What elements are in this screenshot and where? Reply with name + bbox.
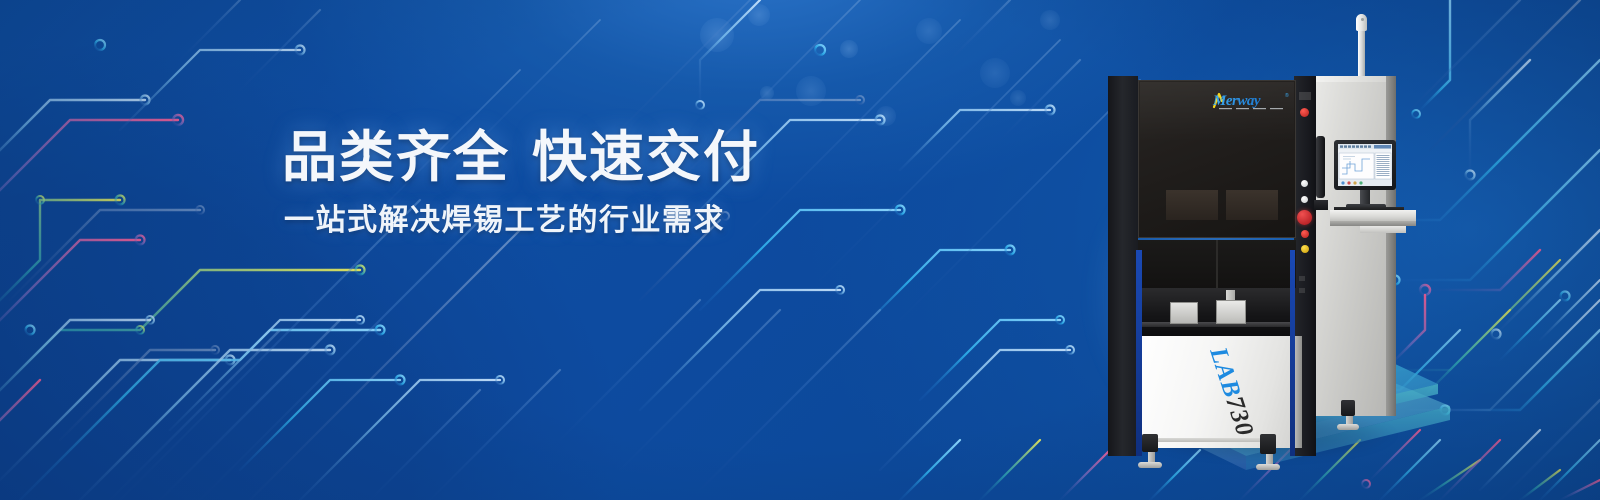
brand-logo: Merway ® bbox=[1210, 90, 1298, 112]
caster-pad-3 bbox=[1337, 424, 1359, 430]
caster-pad-1 bbox=[1138, 462, 1162, 468]
svg-text:®: ® bbox=[1285, 92, 1289, 99]
caster-2 bbox=[1260, 434, 1276, 454]
machine-mid-band-seam bbox=[1216, 240, 1218, 288]
machine-interior-panel-left bbox=[1166, 190, 1218, 220]
keyboard-tray bbox=[1360, 226, 1406, 233]
control-label-mid bbox=[1299, 276, 1305, 281]
caster-1 bbox=[1142, 434, 1158, 452]
headline-part-2: 快速交付 bbox=[532, 126, 760, 188]
red-indicator[interactable] bbox=[1301, 230, 1309, 238]
yellow-indicator[interactable] bbox=[1301, 245, 1309, 253]
white-indicator-1[interactable] bbox=[1301, 180, 1308, 187]
product-hero-banner: 品类齐全快速交付 一站式解决焊锡工艺的行业需求 bbox=[0, 0, 1600, 500]
machine-bay-module-left bbox=[1170, 302, 1198, 324]
door-latch-slot bbox=[1314, 200, 1328, 210]
machine-bay-module-right bbox=[1216, 300, 1246, 324]
svg-text:Merway: Merway bbox=[1212, 93, 1261, 109]
signal-tower-led bbox=[1361, 18, 1364, 21]
machine-blue-accent-right bbox=[1290, 250, 1295, 456]
operator-monitor-screen[interactable] bbox=[1338, 144, 1392, 186]
control-label-top bbox=[1299, 92, 1311, 100]
hero-copy-block: 品类齐全快速交付 一站式解决焊锡工艺的行业需求 bbox=[282, 128, 922, 239]
signal-tower-lamp bbox=[1356, 14, 1367, 31]
machine-interior-panel-right bbox=[1226, 190, 1278, 220]
door-handle[interactable] bbox=[1316, 136, 1325, 198]
product-machine: Merway ® LAB730 bbox=[1108, 14, 1408, 444]
red-indicator-top[interactable] bbox=[1300, 108, 1309, 117]
page-title: 品类齐全快速交付 bbox=[282, 128, 922, 187]
emergency-stop-button[interactable] bbox=[1297, 210, 1312, 225]
machine-tower-edge bbox=[1386, 76, 1396, 416]
caster-3 bbox=[1341, 400, 1355, 416]
machine-lower-body-edge bbox=[1294, 336, 1302, 448]
machine-left-frame bbox=[1108, 76, 1138, 456]
page-subtitle: 一站式解决焊锡工艺的行业需求 bbox=[284, 203, 922, 239]
machine-blue-accent-left bbox=[1136, 250, 1142, 456]
headline-part-1: 品类齐全 bbox=[282, 126, 510, 188]
caster-pad-2 bbox=[1256, 464, 1280, 470]
white-indicator-2[interactable] bbox=[1301, 196, 1308, 203]
control-label-low bbox=[1299, 288, 1305, 293]
